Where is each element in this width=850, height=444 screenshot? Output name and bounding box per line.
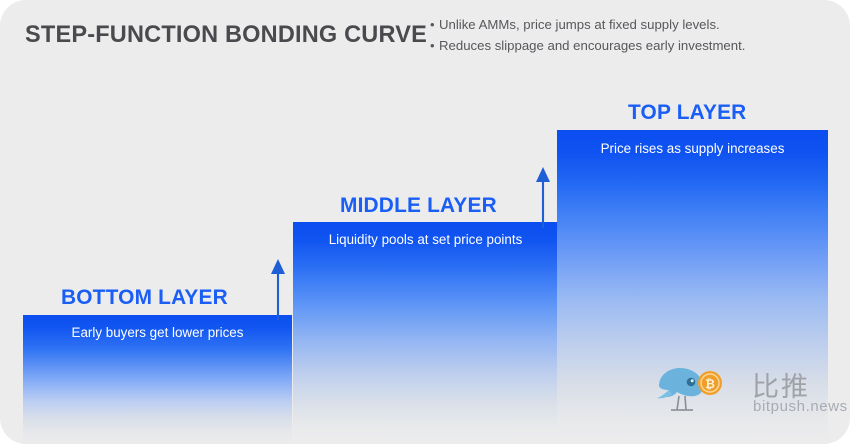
arrow-up-icon-bottom-to-middle	[266, 256, 290, 322]
step-bar-bottom-caption: Early buyers get lower prices	[23, 325, 292, 340]
step-bar-middle-caption: Liquidity pools at set price points	[293, 232, 558, 247]
arrow-up-icon-middle-to-top	[531, 164, 555, 230]
bitcoin-symbol: ₿	[705, 377, 715, 391]
layer-label-bottom: BOTTOM LAYER	[61, 285, 228, 310]
step-bar-bottom: Early buyers get lower prices	[23, 315, 292, 444]
layer-label-top: TOP LAYER	[628, 100, 746, 125]
bullet-marker-icon: •	[430, 35, 439, 56]
watermark-url: bitpush.news	[753, 398, 848, 415]
step-bar-middle-fill	[293, 222, 558, 444]
bullet-item: • Reduces slippage and encourages early …	[430, 35, 830, 56]
bitcoin-coin-icon: ₿	[697, 370, 723, 396]
bullet-text: Unlike AMMs, price jumps at fixed supply…	[439, 14, 720, 35]
watermark: ₿ 比推 bitpush.news	[655, 360, 830, 422]
step-bar-middle: Liquidity pools at set price points	[293, 222, 558, 444]
infographic-canvas: STEP-FUNCTION BONDING CURVE • Unlike AMM…	[0, 0, 850, 444]
page-title: STEP-FUNCTION BONDING CURVE	[25, 21, 427, 49]
bullet-text: Reduces slippage and encourages early in…	[439, 35, 745, 56]
layer-label-middle: MIDDLE LAYER	[340, 193, 497, 218]
header-bullet-list: • Unlike AMMs, price jumps at fixed supp…	[430, 14, 830, 56]
step-bar-top-caption: Price rises as supply increases	[557, 141, 828, 156]
bullet-marker-icon: •	[430, 14, 439, 35]
bullet-item: • Unlike AMMs, price jumps at fixed supp…	[430, 14, 830, 35]
